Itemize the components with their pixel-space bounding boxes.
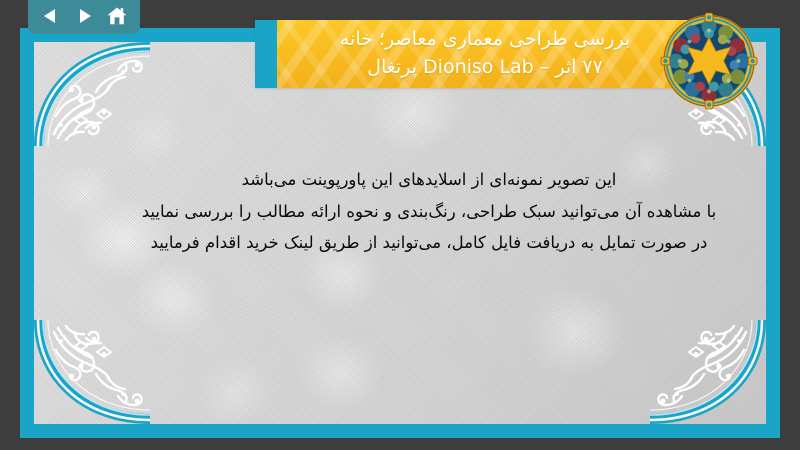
home-button[interactable]: [104, 4, 130, 28]
body-line-2: با مشاهده آن می‌توانید سبک طراحی، رنگ‌بن…: [74, 196, 780, 228]
body-line-1: این تصویر نمونه‌ای از اسلایدهای این پاور…: [74, 164, 780, 196]
slide-viewer: این تصویر نمونه‌ای از اسلایدهای این پاور…: [0, 0, 800, 450]
slide-title-banner: بررسی طراحی معماری معاصر؛ خانه ۷۷ اثر – …: [255, 20, 715, 88]
slide-body-text: این تصویر نمونه‌ای از اسلایدهای این پاور…: [74, 164, 780, 259]
persian-medallion-icon: [660, 12, 758, 110]
slide-title-line-1: بررسی طراحی معماری معاصر؛ خانه: [340, 26, 630, 54]
previous-slide-button[interactable]: [38, 4, 64, 28]
banner-left-teal-edge: [255, 20, 277, 88]
body-line-3: در صورت تمایل به دریافت فایل کامل، می‌تو…: [74, 227, 780, 259]
home-icon: [106, 6, 128, 26]
slide-navigation-bar: [28, 0, 140, 34]
arrow-left-icon: [41, 6, 61, 26]
arrow-right-icon: [74, 6, 94, 26]
slide-title-line-2: ۷۷ اثر – Dioniso Lab پرتغال: [367, 54, 603, 82]
next-slide-button[interactable]: [71, 4, 97, 28]
